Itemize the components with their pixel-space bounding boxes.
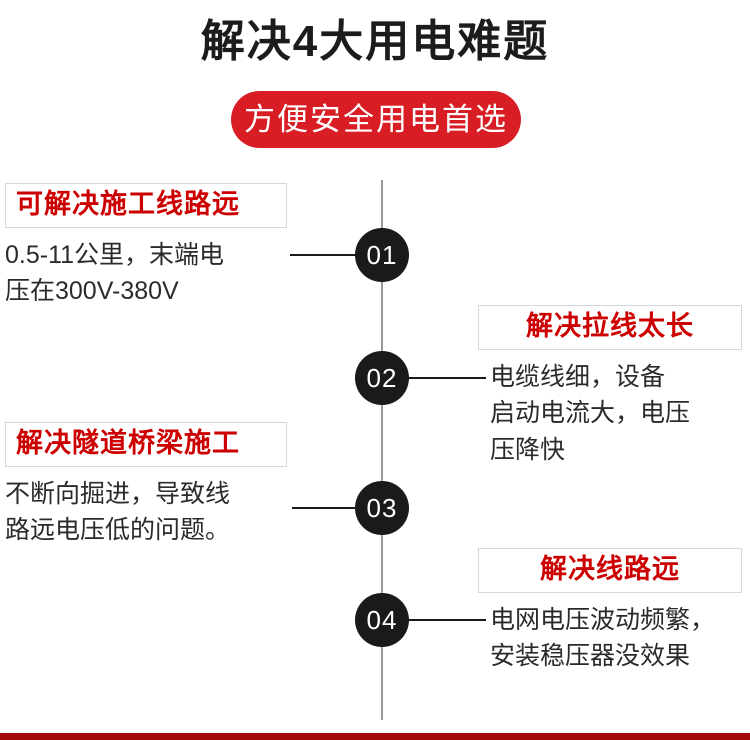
subtitle-badge-label: 方便安全用电首选 [244, 104, 508, 135]
timeline-item-03-body: 不断向掘进，导致线 路远电压低的问题。 [5, 476, 287, 549]
timeline-item-04: 解决线路远 电网电压波动频繁， 安装稳压器没效果 [478, 548, 742, 675]
timeline-item-02-heading: 解决拉线太长 [478, 305, 742, 350]
header-section: 解决4大用电难题 方便安全用电首选 [0, 0, 750, 175]
timeline-item-03-heading: 解决隧道桥梁施工 [5, 422, 287, 467]
subtitle-badge: 方便安全用电首选 [231, 91, 521, 148]
timeline-item-02-body: 电缆线细，设备 启动电流大，电压 压降快 [478, 359, 742, 468]
timeline-item-02-body-line-1: 电缆线细，设备 [490, 359, 742, 395]
timeline-item-01-body: 0.5-11公里，末端电 压在300V-380V [5, 237, 287, 310]
timeline-node-01[interactable]: 01 [355, 228, 409, 282]
connector-line-04 [408, 619, 486, 621]
timeline-item-04-body-line-2: 安装稳压器没效果 [490, 638, 742, 674]
connector-line-01 [290, 254, 355, 256]
timeline-node-03[interactable]: 03 [355, 481, 409, 535]
timeline-item-01-heading: 可解决施工线路远 [5, 183, 287, 228]
timeline-item-01: 可解决施工线路远 0.5-11公里，末端电 压在300V-380V [5, 183, 287, 310]
timeline-node-04[interactable]: 04 [355, 593, 409, 647]
timeline-node-03-label: 03 [367, 495, 398, 521]
timeline-item-03-body-line-2: 路远电压低的问题。 [5, 512, 287, 548]
timeline-item-02: 解决拉线太长 电缆线细，设备 启动电流大，电压 压降快 [478, 305, 742, 468]
page-title: 解决4大用电难题 [0, 18, 750, 66]
timeline-node-04-label: 04 [367, 607, 398, 633]
bottom-accent-strip [0, 733, 750, 740]
timeline-item-02-body-line-2: 启动电流大，电压 [490, 395, 742, 431]
timeline-item-01-body-line-2: 压在300V-380V [5, 273, 287, 309]
timeline-item-02-body-line-3: 压降快 [490, 432, 742, 468]
timeline-item-01-body-line-1: 0.5-11公里，末端电 [5, 237, 287, 273]
timeline-item-03: 解决隧道桥梁施工 不断向掘进，导致线 路远电压低的问题。 [5, 422, 287, 549]
timeline-node-02[interactable]: 02 [355, 351, 409, 405]
timeline-item-04-body-line-1: 电网电压波动频繁， [490, 602, 742, 638]
timeline-item-03-body-line-1: 不断向掘进，导致线 [5, 476, 287, 512]
timeline-node-01-label: 01 [367, 242, 398, 268]
timeline-item-04-body: 电网电压波动频繁， 安装稳压器没效果 [478, 602, 742, 675]
connector-line-02 [408, 377, 486, 379]
timeline-item-04-heading: 解决线路远 [478, 548, 742, 593]
connector-line-03 [292, 507, 355, 509]
timeline-node-02-label: 02 [367, 365, 398, 391]
